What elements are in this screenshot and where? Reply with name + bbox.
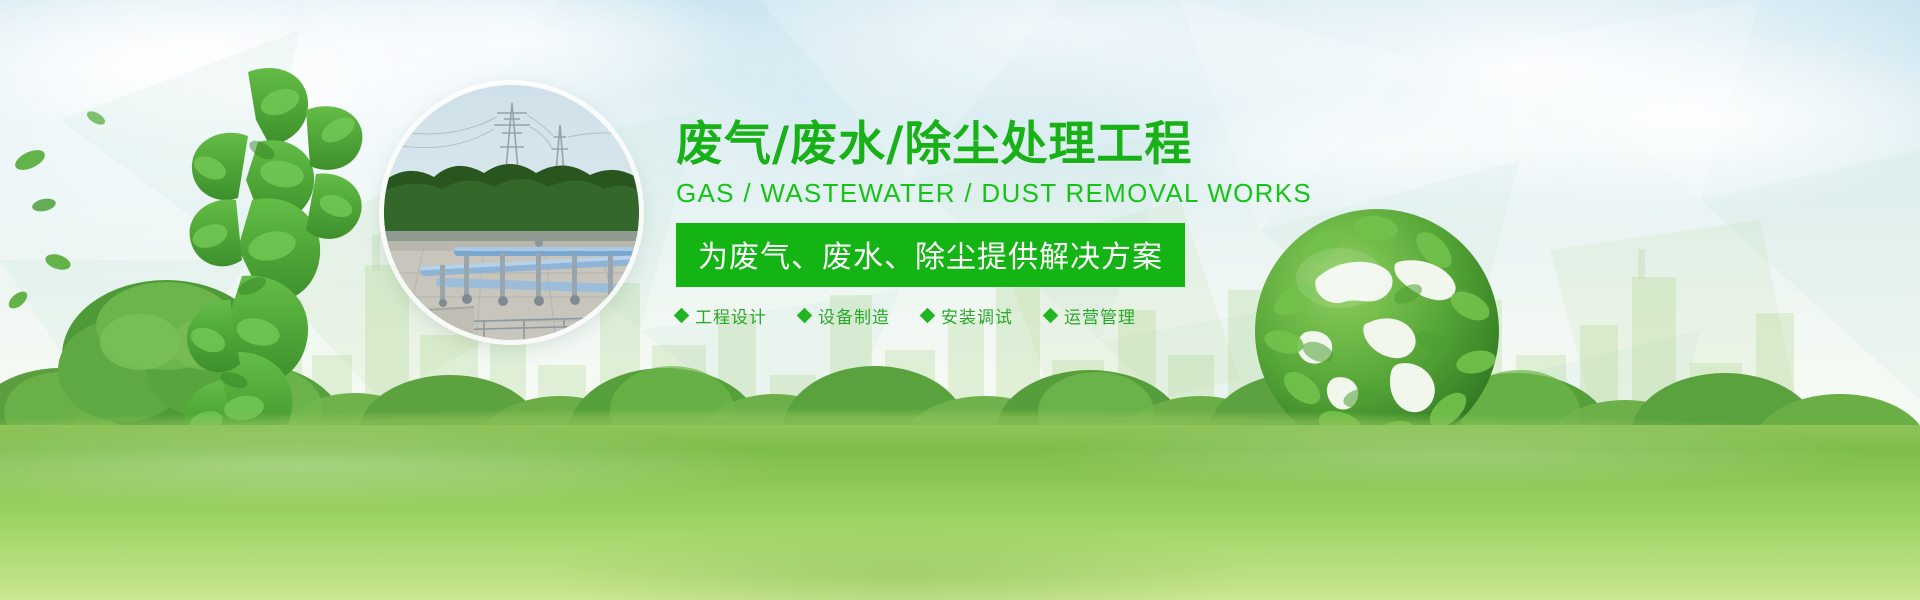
diamond-bullet-icon — [920, 308, 936, 324]
list-item[interactable]: 设备制造 — [799, 303, 890, 328]
page-title: 废气/废水/除尘处理工程 — [676, 120, 1296, 170]
feature-list: 工程设计 设备制造 安装调试 运营管理 — [676, 303, 1296, 328]
list-item[interactable]: 安装调试 — [922, 303, 1013, 328]
hero-banner: 废气/废水/除尘处理工程 GAS / WASTEWATER / DUST REM… — [0, 0, 1920, 600]
feature-label: 设备制造 — [818, 303, 890, 328]
slogan-text: 为废气、废水、除尘提供解决方案 — [698, 240, 1163, 275]
feature-label: 安装调试 — [941, 303, 1013, 328]
page-subtitle-en: GAS / WASTEWATER / DUST REMOVAL WORKS — [676, 178, 1296, 209]
feature-label: 运营管理 — [1064, 303, 1136, 328]
list-item[interactable]: 工程设计 — [676, 303, 767, 328]
grass-field — [0, 425, 1920, 600]
slogan-bar: 为废气、废水、除尘提供解决方案 — [676, 223, 1185, 287]
diamond-bullet-icon — [674, 308, 690, 324]
feature-label: 工程设计 — [695, 303, 767, 328]
diamond-bullet-icon — [797, 308, 813, 324]
hero-text-block: 废气/废水/除尘处理工程 GAS / WASTEWATER / DUST REM… — [676, 120, 1296, 328]
list-item[interactable]: 运营管理 — [1045, 303, 1136, 328]
diamond-bullet-icon — [1043, 308, 1059, 324]
wastewater-treatment-plant-photo — [384, 85, 639, 340]
